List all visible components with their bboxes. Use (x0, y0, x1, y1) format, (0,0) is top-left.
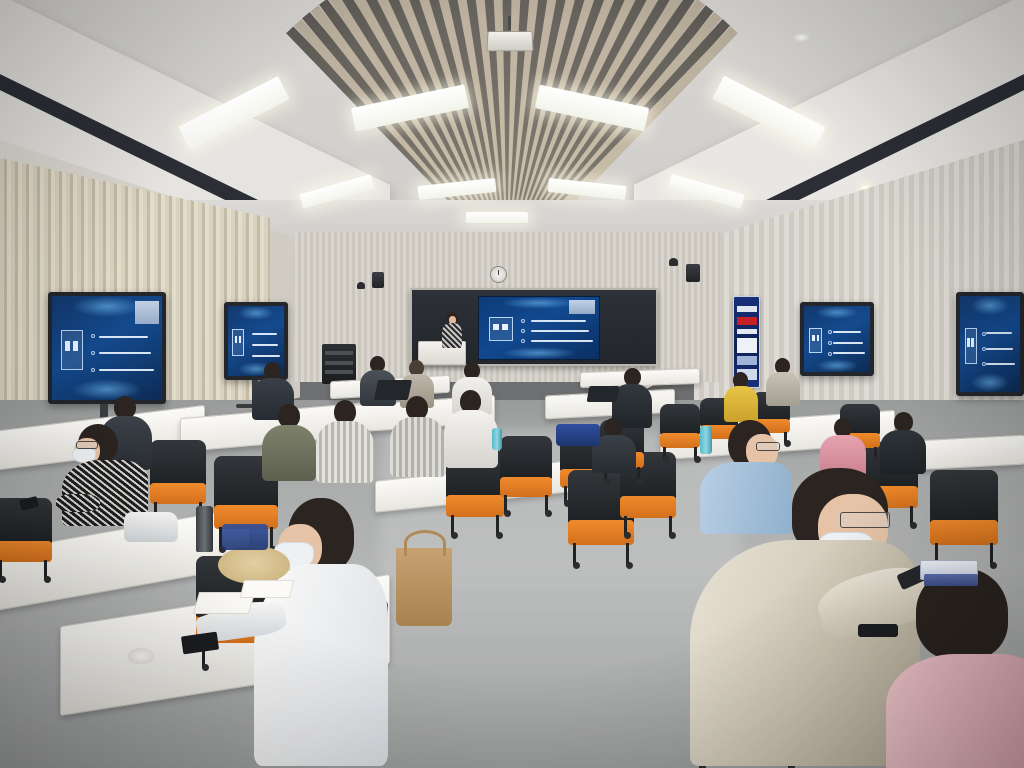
right-monitor-2[interactable] (956, 292, 1024, 396)
chair-leg (624, 516, 627, 536)
main-display[interactable]: 深化数字化转型的总体要求 推进教育数字化的重点任务 "十四五" 教育信息化发展规… (478, 296, 600, 360)
chair-leg (0, 560, 2, 580)
book-blue (924, 574, 978, 586)
thermos-flask (196, 506, 213, 552)
slide-logo-icon (569, 300, 595, 314)
slide-decoration-bottom (501, 347, 578, 359)
chair-caster (669, 532, 676, 539)
chair-seat (446, 495, 504, 517)
camera-left-icon (357, 282, 365, 289)
right-monitor-1[interactable] (800, 302, 874, 376)
person-right-woman-pink (886, 568, 1024, 768)
chair (0, 498, 52, 580)
speaker-right-icon (686, 264, 700, 282)
water-bottle-2 (492, 428, 502, 450)
chair-leg (564, 486, 567, 504)
chair-leg (626, 543, 629, 566)
chair-leg (663, 447, 666, 460)
classroom-scene: 深化数字化转型的总体要求 推进教育数字化的重点任务 "十四五" 教育信息化发展规… (0, 0, 1024, 768)
laptop-1 (374, 380, 412, 400)
chair-leg (990, 543, 993, 566)
person-front-left-woman (58, 424, 150, 524)
chair-leg (451, 515, 454, 536)
tote-bag-handle (404, 530, 446, 556)
person-back-dark (612, 368, 652, 424)
person-presenter (440, 312, 464, 348)
left-monitor-1[interactable] (48, 292, 166, 404)
person-back-right (766, 358, 800, 402)
chair-leg (573, 543, 576, 566)
person-left-mid-2 (262, 404, 316, 476)
water-bottle-teal (700, 426, 712, 454)
chair-leg (694, 447, 697, 460)
chair-leg (496, 515, 499, 536)
smoke-detector-icon (793, 33, 810, 42)
chair-back (150, 440, 206, 488)
camera-right-icon (669, 258, 678, 266)
chair (500, 436, 552, 514)
chair-seat (620, 496, 676, 518)
chair-caster (545, 510, 552, 517)
speaker-left-icon (372, 272, 384, 288)
chair-seat (150, 483, 206, 504)
chair-back (660, 404, 700, 436)
cup (128, 648, 154, 664)
person-left-mid-5 (444, 390, 498, 464)
av-equipment-rack (322, 344, 356, 384)
slide-decoration-top (501, 297, 578, 309)
chair-leg (669, 516, 672, 536)
person-right-far-2 (880, 412, 926, 468)
blue-bag-table (222, 524, 268, 550)
chair-caster (0, 576, 6, 583)
straw-hat (218, 546, 290, 584)
chair-leg (637, 467, 640, 482)
person-right-far-3 (820, 418, 866, 470)
tote-bag (396, 548, 452, 626)
chair (660, 404, 700, 460)
chair-leg (44, 560, 47, 580)
chair-leg (874, 447, 877, 460)
chair-leg (504, 495, 507, 514)
folded-jacket (124, 512, 178, 542)
person-left-mid-3 (316, 400, 374, 480)
chair-caster (451, 532, 458, 539)
ceiling-troffer-light (466, 212, 528, 223)
slide-section-chip (489, 317, 513, 341)
chair-seat (0, 541, 52, 562)
projector-mount (508, 16, 511, 30)
chair-leg (545, 495, 548, 514)
person-back-yellow (724, 372, 758, 418)
chair-seat (660, 433, 700, 448)
laptop-2 (587, 386, 620, 402)
blue-backpack (556, 424, 600, 446)
projector-icon (486, 31, 533, 51)
chair-back (500, 436, 552, 481)
chair-caster (604, 478, 611, 485)
chair-seat (500, 477, 552, 497)
person-left-mid-4 (390, 396, 446, 474)
wall-clock-icon (490, 266, 507, 283)
paper-sheet-left (240, 580, 294, 598)
chair-caster (626, 562, 633, 569)
